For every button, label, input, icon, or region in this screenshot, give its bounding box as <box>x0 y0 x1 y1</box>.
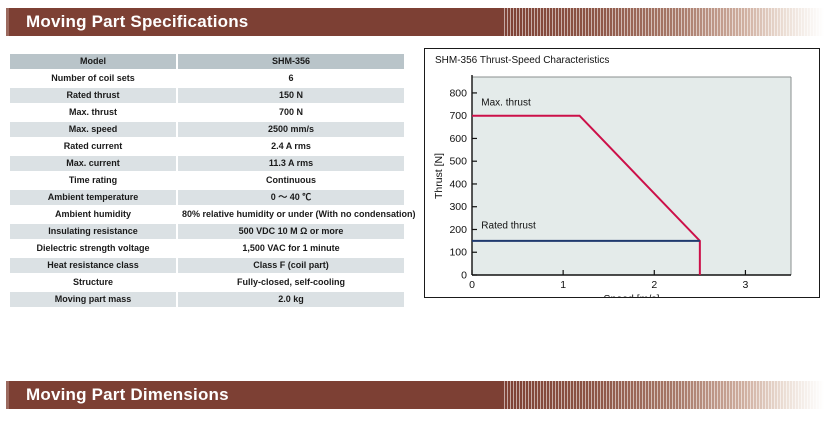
table-cell-label: Ambient humidity <box>10 207 176 222</box>
section-title-dimensions: Moving Part Dimensions <box>26 381 229 409</box>
table-header-label: Model <box>10 54 176 69</box>
chart-y-tick-label: 800 <box>449 87 467 99</box>
chart-annotation-rated-thrust: Rated thrust <box>481 220 536 231</box>
chart-y-tick-label: 200 <box>449 224 467 236</box>
chart-x-tick-label: 3 <box>743 279 749 291</box>
table-row: Rated current2.4 A rms <box>10 139 404 154</box>
table-cell-label: Moving part mass <box>10 292 176 307</box>
specifications-table: Model SHM-356 Number of coil sets6Rated … <box>8 52 406 309</box>
table-cell-value: Continuous <box>178 173 404 188</box>
table-row: Rated thrust150 N <box>10 88 404 103</box>
chart-y-tick-label: 300 <box>449 201 467 213</box>
section-header-stripe-gradient <box>502 381 824 409</box>
table-cell-value: Fully-closed, self-cooling <box>178 275 404 290</box>
table-row: Heat resistance classClass F (coil part) <box>10 258 404 273</box>
table-row: Moving part mass2.0 kg <box>10 292 404 307</box>
table-header-value: SHM-356 <box>178 54 404 69</box>
chart-y-tick-label: 0 <box>461 270 467 282</box>
table-cell-label: Rated thrust <box>10 88 176 103</box>
table-cell-label: Insulating resistance <box>10 224 176 239</box>
table-row: Dielectric strength voltage1,500 VAC for… <box>10 241 404 256</box>
table-row: StructureFully-closed, self-cooling <box>10 275 404 290</box>
table-cell-value: Class F (coil part) <box>178 258 404 273</box>
chart-x-tick-label: 1 <box>560 279 566 291</box>
chart-y-tick-label: 600 <box>449 133 467 145</box>
table-cell-value: 700 N <box>178 105 404 120</box>
table-cell-label: Max. thrust <box>10 105 176 120</box>
chart-canvas: 01002003004005006007008000123Speed [m/s]… <box>425 49 819 297</box>
table-cell-value: 150 N <box>178 88 404 103</box>
table-cell-label: Ambient temperature <box>10 190 176 205</box>
table-header-row: Model SHM-356 <box>10 54 404 69</box>
chart-x-tick-label: 2 <box>651 279 657 291</box>
table-row: Number of coil sets6 <box>10 71 404 86</box>
table-cell-label: Time rating <box>10 173 176 188</box>
chart-x-axis-label: Speed [m/s] <box>603 293 659 297</box>
table-cell-value: 2.4 A rms <box>178 139 404 154</box>
chart-y-tick-label: 500 <box>449 156 467 168</box>
table-cell-value: 80% relative humidity or under (With no … <box>178 207 404 222</box>
table-row: Ambient humidity80% relative humidity or… <box>10 207 404 222</box>
table-cell-value: 11.3 A rms <box>178 156 404 171</box>
section-header-specifications: Moving Part Specifications <box>6 8 824 36</box>
chart-x-tick-label: 0 <box>469 279 475 291</box>
table-row: Ambient temperature0 〜 40 ℃ <box>10 190 404 205</box>
chart-annotation-max-thrust: Max. thrust <box>481 97 531 108</box>
chart-y-axis-label: Thrust [N] <box>433 153 445 199</box>
table-cell-value: 6 <box>178 71 404 86</box>
section-title-specifications: Moving Part Specifications <box>26 8 248 36</box>
table-row: Insulating resistance500 VDC 10 M Ω or m… <box>10 224 404 239</box>
chart-y-tick-label: 700 <box>449 110 467 122</box>
thrust-speed-chart-panel: SHM-356 Thrust-Speed Characteristics 010… <box>424 48 820 298</box>
table-row: Max. thrust700 N <box>10 105 404 120</box>
chart-y-tick-label: 100 <box>449 247 467 259</box>
table-cell-value: 2500 mm/s <box>178 122 404 137</box>
table-cell-label: Max. speed <box>10 122 176 137</box>
table-cell-label: Structure <box>10 275 176 290</box>
chart-y-tick-label: 400 <box>449 178 467 190</box>
table-cell-label: Heat resistance class <box>10 258 176 273</box>
table-cell-value: 1,500 VAC for 1 minute <box>178 241 404 256</box>
table-cell-label: Number of coil sets <box>10 71 176 86</box>
table-row: Max. current11.3 A rms <box>10 156 404 171</box>
table-row: Time ratingContinuous <box>10 173 404 188</box>
table-cell-label: Dielectric strength voltage <box>10 241 176 256</box>
table-cell-value: 2.0 kg <box>178 292 404 307</box>
table-cell-value: 500 VDC 10 M Ω or more <box>178 224 404 239</box>
table-row: Max. speed2500 mm/s <box>10 122 404 137</box>
table-cell-label: Max. current <box>10 156 176 171</box>
table-cell-label: Rated current <box>10 139 176 154</box>
section-header-stripe-gradient <box>502 8 824 36</box>
table-cell-value: 0 〜 40 ℃ <box>178 190 404 205</box>
section-header-dimensions: Moving Part Dimensions <box>6 381 824 409</box>
